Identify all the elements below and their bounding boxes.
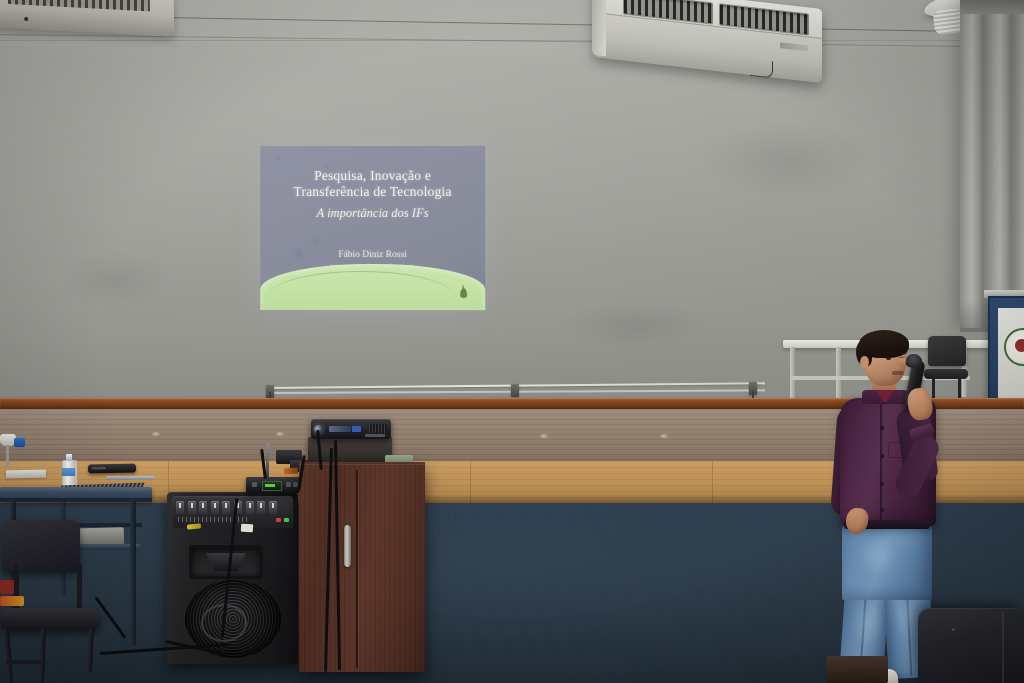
receiver-antenna <box>266 443 269 479</box>
cabinet-door-split <box>356 470 358 668</box>
remote-button-strip <box>92 467 106 469</box>
amplifier-knob[interactable] <box>257 501 265 514</box>
leaf-drop-icon <box>460 288 467 298</box>
window-curtain <box>960 0 1024 328</box>
power-led <box>276 518 281 522</box>
water-bottle[interactable] <box>62 452 75 488</box>
receiver-button[interactable] <box>286 482 291 487</box>
red-object <box>0 580 14 594</box>
orange-connector <box>284 467 298 474</box>
amplifier-knob[interactable] <box>199 501 207 514</box>
receiver-display <box>262 481 282 491</box>
antenna-tip <box>14 438 25 447</box>
chair-rivet <box>952 628 955 631</box>
paper-pad <box>6 470 46 479</box>
shirt-button <box>880 508 884 512</box>
stage-fastener <box>540 434 549 439</box>
chair-leg <box>958 378 961 398</box>
microphone-head-icon <box>905 353 923 370</box>
conduit-bracket <box>511 384 519 397</box>
chair-back-frame <box>14 564 82 613</box>
projector-brand-badge <box>365 434 385 437</box>
blue-notice-board <box>988 296 1024 412</box>
amplifier-knob-row[interactable] <box>176 501 289 515</box>
projector-port-strip <box>329 426 351 432</box>
stage-fastener <box>660 434 669 439</box>
slide-title-line2: Transferência de Tecnologia <box>260 184 485 200</box>
slide-author: Fábio Diniz Rossi <box>260 250 485 260</box>
bottle-label <box>62 468 75 476</box>
ac-mount-dot <box>24 17 28 21</box>
presenter-ear <box>860 356 869 368</box>
curtain-rail <box>960 0 1024 14</box>
laptop-lid <box>105 476 155 480</box>
chair-leg <box>39 628 46 683</box>
amplifier-knob[interactable] <box>176 501 184 514</box>
vga-port <box>352 426 361 432</box>
amplifier-knob[interactable] <box>246 501 254 514</box>
ac-grille-icon <box>8 0 150 11</box>
orange-object <box>0 596 24 606</box>
slide-band-curve <box>266 271 456 298</box>
slide-title-line1: Pesquisa, Inovação e <box>260 168 485 184</box>
table-leg <box>790 347 795 399</box>
amplifier-knob[interactable] <box>188 501 196 514</box>
lamp-stem <box>6 445 9 468</box>
presenter-eye <box>886 357 891 360</box>
ac-side-edge <box>592 0 606 56</box>
stage-fastener <box>276 432 285 437</box>
chair-leg <box>87 628 94 672</box>
white-plug <box>241 524 253 533</box>
slide-subtitle: A importância dos IFs <box>260 206 485 221</box>
projector-vent <box>369 424 387 433</box>
projected-slide: Pesquisa, Inovação e Transferência de Te… <box>260 146 485 310</box>
chair-rung <box>6 660 46 664</box>
horn-tweeter <box>189 545 263 579</box>
amplifier-knob[interactable] <box>222 501 230 514</box>
wooden-podium-cabinet[interactable] <box>299 464 425 672</box>
bottle-cap <box>66 454 72 461</box>
ac-drain-wire <box>750 59 773 79</box>
chair-leg <box>4 628 14 683</box>
stage-step <box>826 656 888 683</box>
receiver-button[interactable] <box>252 482 257 487</box>
presenter-jeans <box>842 524 932 600</box>
amplifier-label-strip <box>178 517 248 522</box>
yellow-cable-connector <box>187 523 201 529</box>
slide-title: Pesquisa, Inovação e Transferência de Te… <box>260 168 485 200</box>
stage-fastener <box>152 432 161 437</box>
foreground-audience-chair[interactable] <box>918 608 1024 683</box>
presenter-mouth <box>892 371 904 375</box>
shirt-button <box>880 482 884 486</box>
cabinet-handle[interactable] <box>344 525 351 567</box>
presentation-remote[interactable] <box>88 464 136 474</box>
amplifier-knob[interactable] <box>211 501 219 514</box>
video-projector[interactable] <box>311 419 391 439</box>
desk-leg <box>130 500 136 646</box>
chair-edge <box>1002 612 1004 683</box>
signal-led <box>284 518 289 522</box>
chair-seat <box>0 608 100 630</box>
amplifier-knob[interactable] <box>269 501 277 514</box>
shirt-button <box>880 454 884 458</box>
shirt-button <box>880 426 884 430</box>
shirt-placket <box>880 402 884 524</box>
wireless-microphone-receiver[interactable] <box>246 477 302 493</box>
slide-footer-band <box>260 264 485 310</box>
lecture-hall-photo: Pesquisa, Inovação e Transferência de Te… <box>0 0 1024 683</box>
